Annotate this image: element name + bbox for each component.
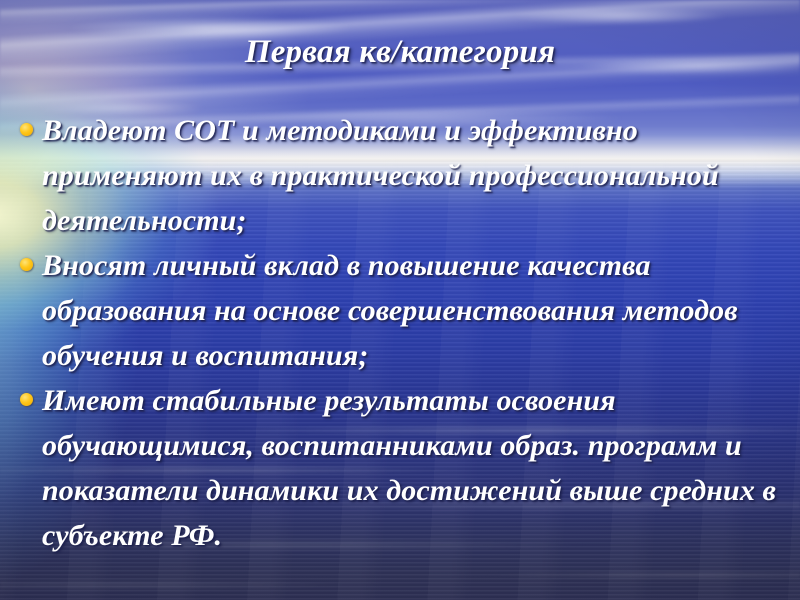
list-item: Владеют СОТ и методиками и эффективно пр…: [14, 108, 784, 243]
presentation-slide: Первая кв/категория Владеют СОТ и методи…: [0, 0, 800, 600]
bullet-text: Имеют стабильные результаты освоения обу…: [42, 378, 784, 558]
list-item: Имеют стабильные результаты освоения обу…: [14, 378, 784, 558]
bullet-text: Вносят личный вклад в повышение качества…: [42, 243, 784, 378]
list-item: Вносят личный вклад в повышение качества…: [14, 243, 784, 378]
bullet-list: Владеют СОТ и методиками и эффективно пр…: [14, 108, 784, 558]
bullet-text: Владеют СОТ и методиками и эффективно пр…: [42, 108, 784, 243]
bullet-dot-icon: [20, 393, 33, 406]
slide-content: Первая кв/категория Владеют СОТ и методи…: [0, 0, 800, 600]
bullet-dot-icon: [20, 123, 33, 136]
slide-title: Первая кв/категория: [0, 32, 800, 72]
bullet-dot-icon: [20, 258, 33, 271]
